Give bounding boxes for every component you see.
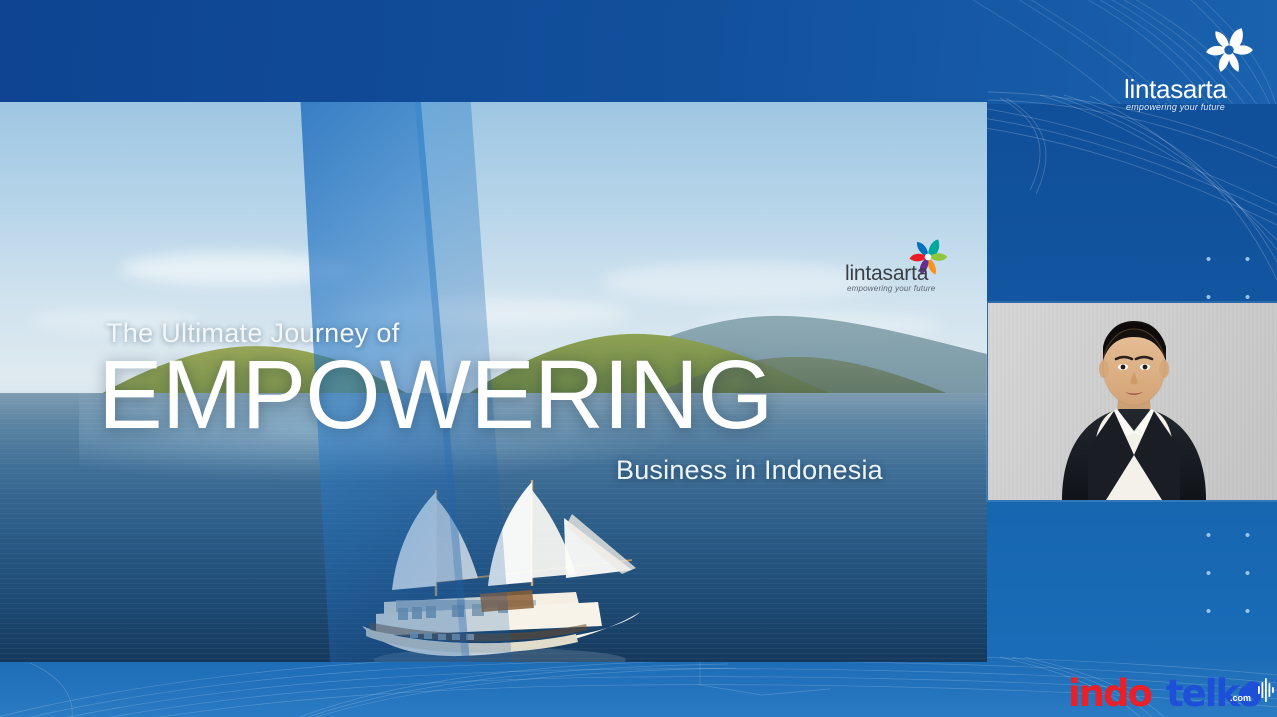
slide-logo-wordmark: lintasarta	[845, 262, 928, 286]
lintasarta-pinwheel-icon	[1202, 24, 1256, 76]
slide-main-title: EMPOWERING	[98, 346, 772, 443]
slide-subtitle-text: Business in Indonesia	[616, 455, 883, 486]
slide-lintasarta-logo: lintasarta empowering your future	[845, 236, 945, 298]
header-logo-wordmark: lintasarta	[1124, 74, 1227, 105]
broadcast-stage: lintasarta empowering your future	[0, 0, 1277, 717]
slide-logo-tagline: empowering your future	[847, 284, 935, 293]
header-lintasarta-logo: lintasarta empowering your future	[1124, 24, 1264, 98]
presenter-figure	[988, 303, 1277, 500]
shared-slide[interactable]: The Ultimate Journey of EMPOWERING Busin…	[0, 102, 987, 662]
photo-phinisi-boat	[340, 474, 660, 662]
header-logo-tagline: empowering your future	[1126, 102, 1225, 112]
presenter-video-tile[interactable]	[988, 303, 1277, 500]
watermark-text-dotcom: .com	[1230, 693, 1251, 703]
watermark-text-indo: indo	[1068, 672, 1151, 715]
indotelko-watermark: indo telko .com	[1068, 674, 1272, 714]
